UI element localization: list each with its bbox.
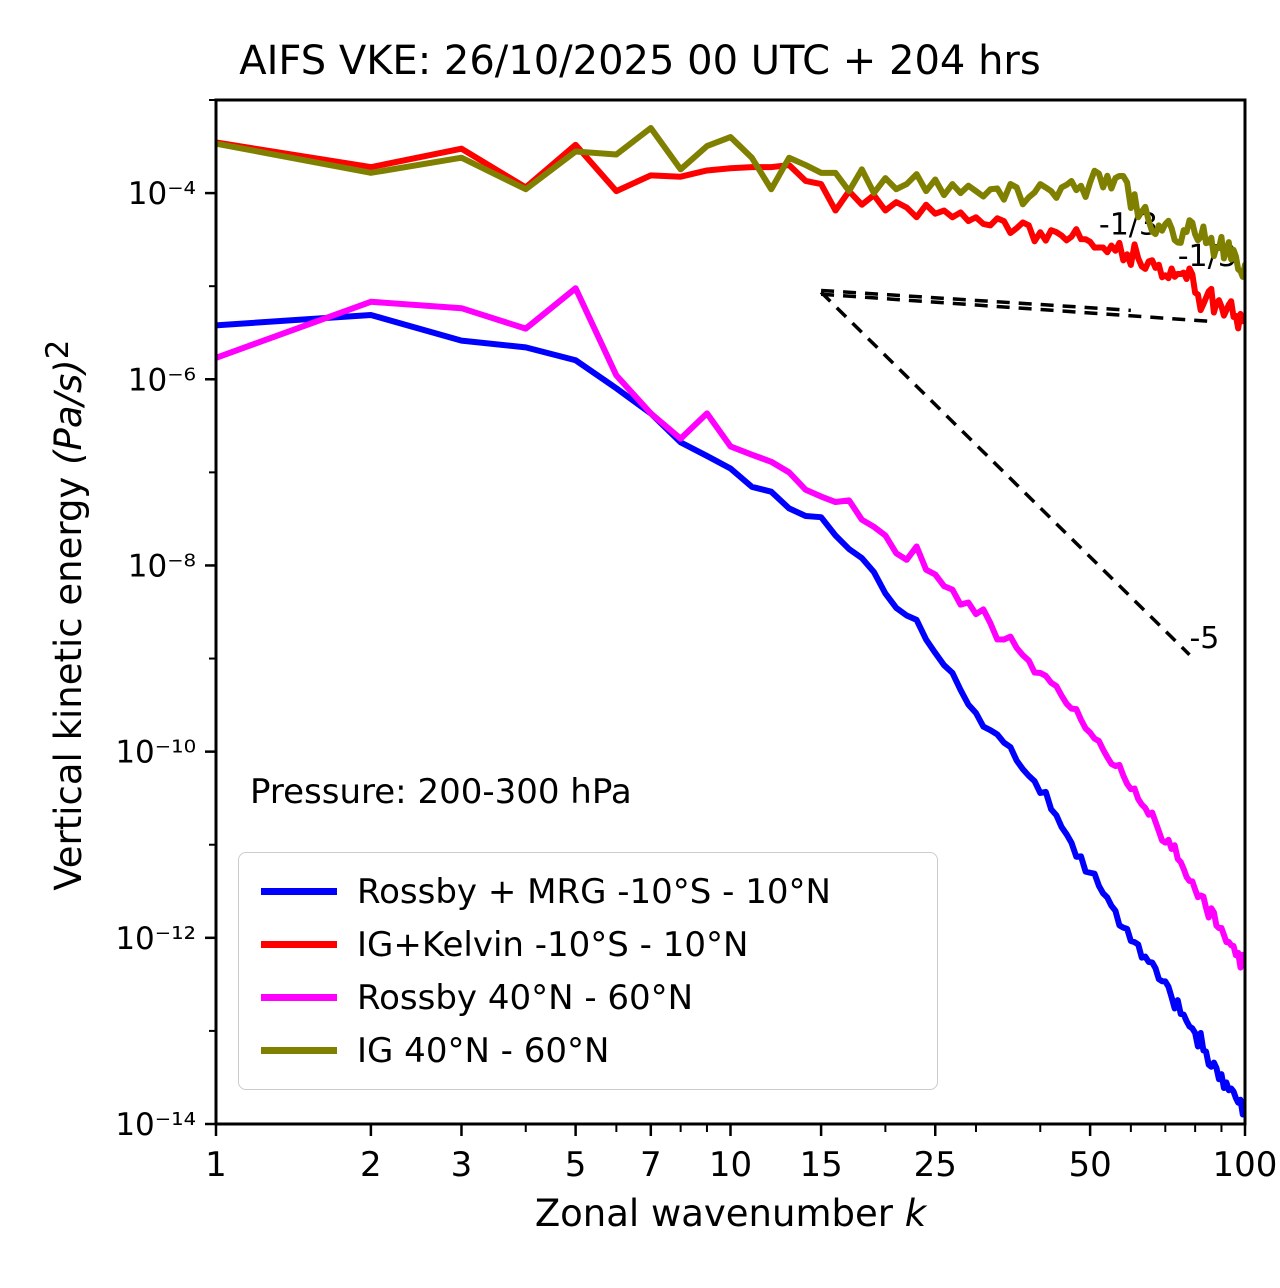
y-tick-label: 10⁻⁴ <box>128 176 196 212</box>
x-tick-label: 15 <box>799 1145 842 1185</box>
chart-page: AIFS VKE: 26/10/2025 00 UTC + 204 hrs 10… <box>0 0 1280 1288</box>
x-tick-label: 100 <box>1213 1145 1278 1185</box>
series-line-3 <box>216 128 1245 277</box>
y-axis-label-units: (Pa/s) <box>47 359 90 465</box>
y-tick-label: 10⁻¹⁴ <box>115 1107 196 1143</box>
legend-swatch-rossby-mrg <box>261 888 337 895</box>
legend-swatch-rossby-midlat <box>261 994 337 1001</box>
x-tick-label: 2 <box>360 1145 382 1185</box>
x-tick-label: 7 <box>640 1145 662 1185</box>
y-axis-label-plain: Vertical kinetic energy <box>47 465 90 891</box>
y-tick-label: 10⁻¹⁰ <box>115 735 196 771</box>
legend-label-rossby-midlat: Rossby 40°N - 60°N <box>357 981 693 1015</box>
legend: Rossby + MRG -10°S - 10°N IG+Kelvin -10°… <box>238 852 938 1090</box>
x-tick-label: 5 <box>565 1145 587 1185</box>
reference-line-slope-5 <box>821 292 1189 654</box>
slope-annotation: -5 <box>1189 621 1219 656</box>
y-tick-label: 10⁻¹² <box>115 921 196 957</box>
legend-label-rossby-mrg: Rossby + MRG -10°S - 10°N <box>357 875 831 909</box>
pressure-annotation: Pressure: 200-300 hPa <box>250 772 632 812</box>
x-axis-label-symbol: k <box>905 1192 926 1235</box>
legend-item-ig-kelvin[interactable]: IG+Kelvin -10°S - 10°N <box>239 918 937 971</box>
legend-item-ig-midlat[interactable]: IG 40°N - 60°N <box>239 1024 937 1077</box>
y-axis-label: Vertical kinetic energy (Pa/s)2 <box>40 265 90 965</box>
x-tick-label: 10 <box>709 1145 752 1185</box>
reference-line-slope-13 <box>821 290 1131 310</box>
legend-item-rossby-midlat[interactable]: Rossby 40°N - 60°N <box>239 971 937 1024</box>
legend-label-ig-midlat: IG 40°N - 60°N <box>357 1034 609 1068</box>
y-tick-label: 10⁻⁸ <box>128 548 196 584</box>
y-tick-label: 10⁻⁶ <box>128 362 196 398</box>
reference-line-slope-13 <box>821 294 1209 321</box>
x-tick-label: 1 <box>205 1145 227 1185</box>
legend-swatch-ig-kelvin <box>261 941 337 948</box>
plot-area: 10⁻⁴10⁻⁶10⁻⁸10⁻¹⁰10⁻¹²10⁻¹⁴1235710152550… <box>0 0 1280 1288</box>
legend-swatch-ig-midlat <box>261 1047 337 1054</box>
x-tick-label: 3 <box>451 1145 473 1185</box>
x-tick-label: 25 <box>914 1145 957 1185</box>
x-tick-label: 50 <box>1068 1145 1111 1185</box>
legend-item-rossby-mrg[interactable]: Rossby + MRG -10°S - 10°N <box>239 865 937 918</box>
y-axis-label-exponent: 2 <box>40 340 76 360</box>
x-axis-label-plain: Zonal wavenumber <box>535 1192 905 1235</box>
x-axis-label: Zonal wavenumber k <box>216 1192 1245 1235</box>
legend-label-ig-kelvin: IG+Kelvin -10°S - 10°N <box>357 928 748 962</box>
